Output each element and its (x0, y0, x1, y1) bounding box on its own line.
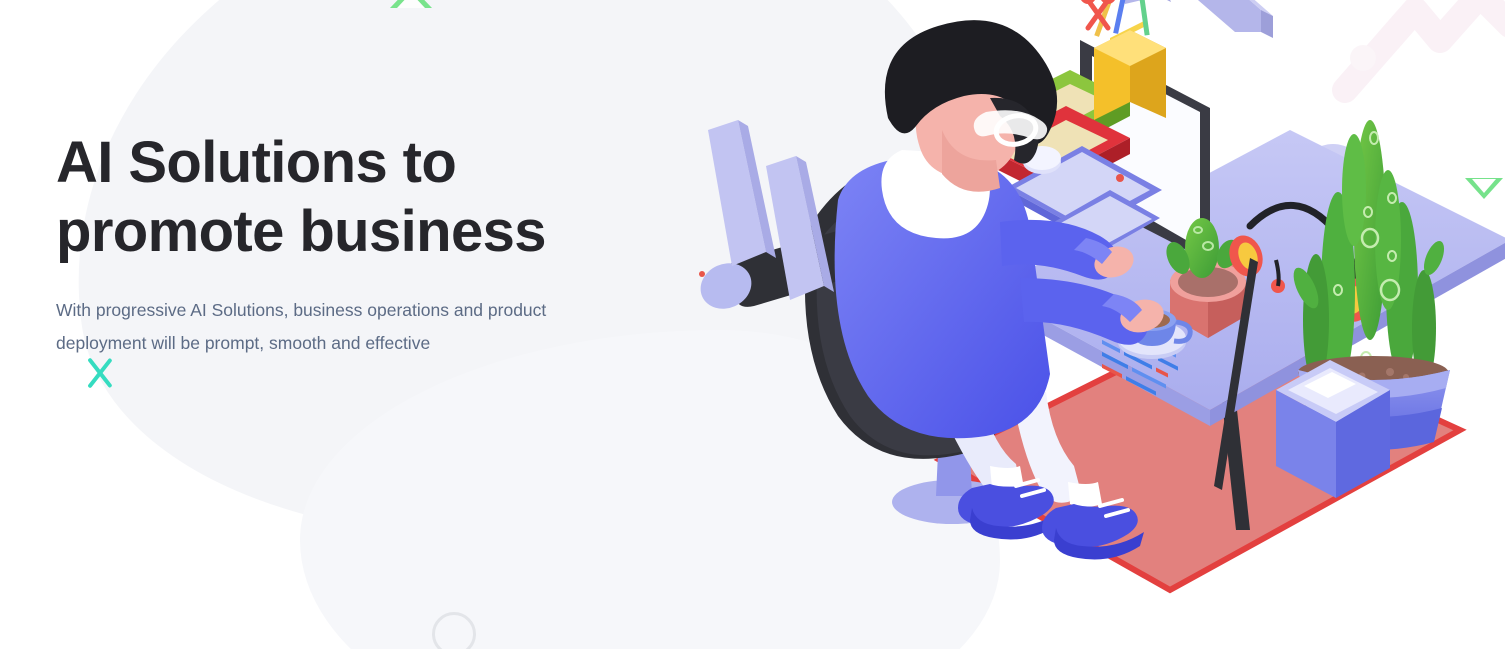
hero-section: AI Solutions to promote business With pr… (0, 0, 1505, 649)
cross-x-icon (80, 355, 116, 391)
hero-copy: AI Solutions to promote business With pr… (56, 128, 696, 360)
circle-outline-icon (432, 612, 476, 649)
page-title: AI Solutions to promote business (56, 128, 696, 266)
triangle-up-icon (390, 0, 432, 8)
hero-illustration (690, 0, 1505, 620)
hero-subtitle: With progressive AI Solutions, business … (56, 294, 616, 360)
triangle-down-icon (1465, 178, 1503, 199)
pencil-cup (1082, 0, 1166, 120)
